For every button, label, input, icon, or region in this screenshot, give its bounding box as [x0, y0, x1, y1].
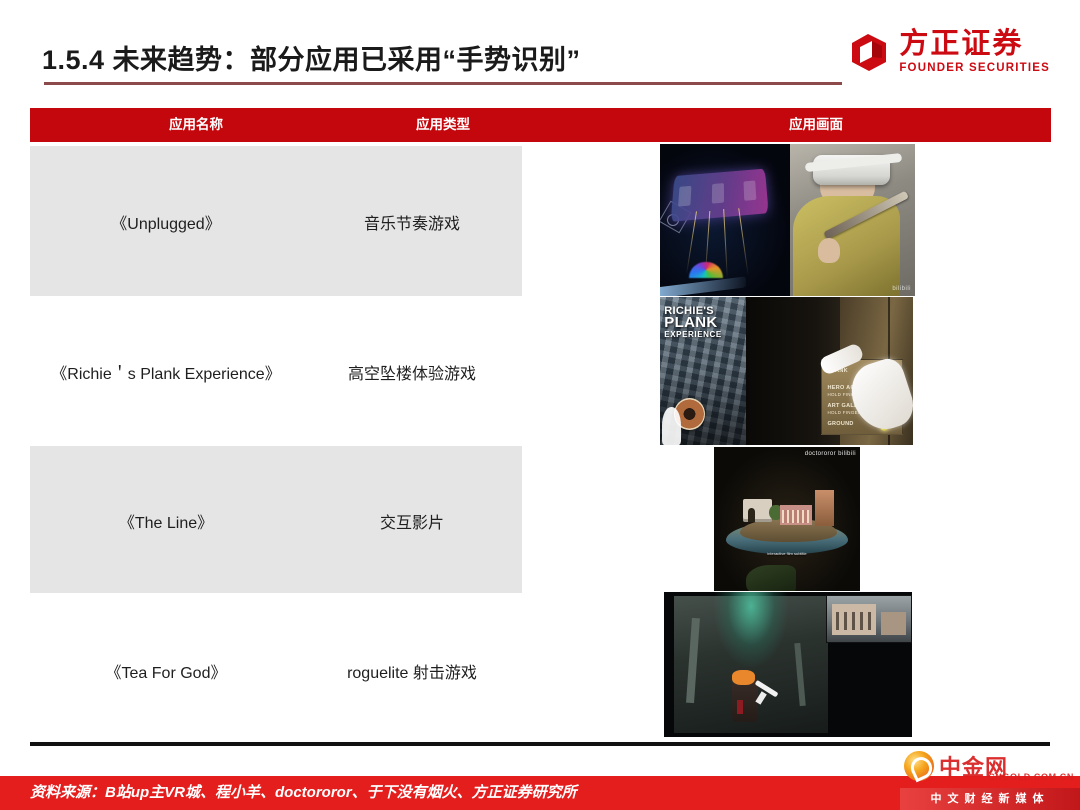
diorama-subtitle: interactive film subtitle	[749, 551, 825, 557]
bottom-divider	[30, 742, 1050, 746]
company-logo: 方正证券 FOUNDER SECURITIES	[848, 30, 1050, 75]
elevator-option-4: GROUND	[827, 421, 853, 428]
table-row: 高空坠楼体验游戏	[302, 360, 522, 384]
cube-logo-icon	[848, 31, 890, 73]
vr-floor-light	[660, 277, 746, 296]
slide-root: 1.5.4 未来趋势：部分应用已采用“手势识别” 方正证券 FOUNDER SE…	[0, 0, 1080, 810]
logo-chinese-name: 方正证券	[899, 30, 1050, 59]
logo-english-name: FOUNDER SECURITIES	[899, 63, 1050, 75]
unplugged-vr-menu-panel	[660, 144, 790, 296]
green-light-glow	[714, 592, 788, 667]
table-row: roguelite 射击游戏	[302, 659, 522, 683]
column-header-app-type: 应用类型	[378, 108, 508, 142]
bilibili-watermark: bilibili	[892, 286, 911, 292]
plank-cover-art: RICHIE'S PLANK EXPERIENCE	[660, 297, 746, 445]
plank-title-line2: PLANK	[664, 316, 722, 330]
virtual-hand-icon	[662, 407, 681, 445]
scene-pillar-left	[686, 618, 700, 703]
diorama-arch-building	[743, 499, 772, 522]
app-screenshot-unplugged: bilibili	[660, 144, 915, 296]
avatar-red-detail	[737, 700, 743, 714]
unplugged-player-photo: bilibili	[790, 144, 915, 296]
plank-title-line3: EXPERIENCE	[664, 331, 722, 339]
inset-building-side	[881, 612, 906, 635]
player-body	[793, 196, 900, 296]
scene-pillar-right	[794, 643, 806, 706]
rainbow-orb-icon	[689, 262, 723, 278]
table-row: 《Tea For God》	[30, 659, 302, 683]
vr-curved-menu	[671, 169, 768, 222]
column-header-app-screenshot: 应用画面	[742, 108, 890, 142]
table-header-bar: 应用名称 应用类型 应用画面	[30, 108, 1051, 142]
inset-building-main	[832, 604, 876, 635]
table-row: 交互影片	[302, 509, 522, 533]
passthrough-inset	[826, 595, 912, 643]
column-header-app-name: 应用名称	[128, 108, 264, 142]
footer-bar: 资料来源：B站up主VR城、程小羊、doctororor、于下没有烟火、方正证券…	[0, 776, 1080, 810]
tea-for-god-scene	[674, 596, 828, 732]
app-screenshot-the-line: interactive film subtitle doctororor bil…	[714, 447, 860, 591]
table-row: 《The Line》	[30, 509, 302, 533]
table-row: 《Richie＇s Plank Experience》	[30, 360, 302, 384]
plank-elevator-scene: PLANK HERO ACADEMY HOLD FINGER ON SURFAC…	[746, 297, 913, 445]
table-row: 《Unplugged》	[30, 210, 302, 234]
player-avatar-head	[732, 670, 755, 685]
diorama-tower	[815, 490, 834, 526]
app-screenshot-richies-plank: RICHIE'S PLANK EXPERIENCE PLANK HERO ACA…	[660, 297, 913, 445]
source-note: 资料来源：B站up主VR城、程小羊、doctororor、于下没有烟火、方正证券…	[30, 776, 577, 810]
diorama-house	[780, 505, 812, 525]
plank-cover-title: RICHIE'S PLANK EXPERIENCE	[664, 306, 722, 338]
diorama-foreground-shape	[746, 565, 796, 591]
title-underline	[44, 82, 842, 85]
table-row: 音乐节奏游戏	[302, 210, 522, 234]
page-title: 1.5.4 未来趋势：部分应用已采用“手势识别”	[42, 38, 581, 77]
app-screenshot-tea-for-god	[664, 592, 912, 737]
player-hand	[818, 238, 840, 262]
doctororor-bilibili-watermark: doctororor bilibili	[805, 451, 856, 457]
